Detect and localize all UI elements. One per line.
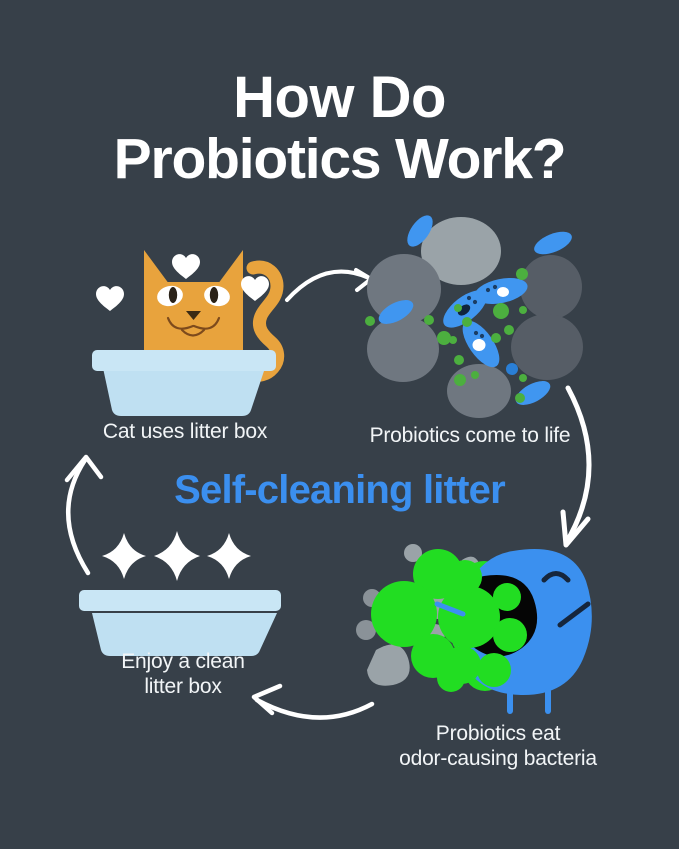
- cat-in-litter-box-icon: [92, 250, 278, 416]
- probiotic-with-face: [456, 315, 507, 373]
- probiotic-body: [456, 549, 592, 695]
- debris-particle: [425, 593, 451, 619]
- debris-particle: [404, 544, 422, 562]
- heart-icon-top: [172, 254, 200, 279]
- sparkle-star-group: [102, 531, 251, 581]
- probiotic-with-face: [472, 274, 530, 309]
- heart-icon-right: [241, 276, 269, 301]
- sparkle-star-icon: [207, 533, 251, 579]
- step-2-caption: Probiotics come to life: [330, 424, 610, 449]
- debris-particle: [458, 557, 480, 578]
- litter-pellet: [520, 255, 582, 319]
- probiotic-rod: [375, 295, 417, 329]
- step-4-caption: Enjoy a clean litter box: [48, 650, 318, 700]
- probiotic-eating-bacteria-icon: [356, 544, 592, 714]
- arrow-probiotics-to-eating: [563, 388, 589, 545]
- step-3-caption: Probiotics eat odor-causing bacteria: [348, 722, 648, 772]
- probiotic-rod: [402, 211, 437, 251]
- bacteria-group: [371, 549, 551, 692]
- bacteria-in-mouth-group: [438, 560, 527, 687]
- probiotic-leg: [507, 688, 513, 714]
- cat-ear-right: [212, 250, 243, 292]
- clean-litter-box-icon: [79, 590, 281, 656]
- cat-nose: [186, 311, 201, 320]
- debris-particle: [425, 624, 445, 644]
- odor-particle-group: [365, 268, 528, 403]
- cat-mouth: [182, 330, 204, 336]
- infographic-page: How Do Probiotics Work? Cat uses litter …: [0, 0, 679, 849]
- heart-icon-group: [96, 254, 269, 311]
- cat-pupil-left: [169, 287, 177, 303]
- litter-box-rim-dirty: [92, 350, 276, 371]
- probiotic-with-face: [437, 284, 493, 335]
- litter-pellet: [367, 254, 441, 324]
- litter-pellet: [447, 364, 511, 418]
- debris-particle: [363, 589, 381, 607]
- cat-pupil-right: [210, 287, 218, 303]
- sparkle-star-icon: [102, 533, 146, 579]
- title-line-2: Probiotics Work?: [0, 129, 679, 191]
- cat-head: [144, 282, 243, 372]
- probiotic-rod: [512, 376, 554, 410]
- cat-muzzle-right: [194, 318, 219, 329]
- page-title: How Do Probiotics Work?: [0, 68, 679, 191]
- step-4-caption-line-2: litter box: [48, 675, 318, 700]
- probiotic-leg: [545, 688, 551, 714]
- step-4-caption-line-1: Enjoy a clean: [48, 650, 318, 675]
- litter-pellet: [421, 217, 501, 285]
- debris-particle: [356, 620, 376, 640]
- probiotic-cluster-icon: [365, 211, 583, 418]
- self-cleaning-headline: Self-cleaning litter: [0, 468, 679, 513]
- probiotic-mouth: [454, 575, 537, 657]
- title-line-1: How Do: [0, 68, 679, 127]
- cat-ear-left: [144, 250, 175, 292]
- probiotic-arm: [560, 604, 588, 625]
- sparkle-star-icon: [154, 531, 200, 581]
- debris-particle: [367, 645, 410, 686]
- cat-muzzle-left: [168, 318, 193, 329]
- cat-eye-right: [202, 284, 232, 309]
- probiotic-tendril: [437, 604, 463, 614]
- step-1-caption: Cat uses litter box: [52, 420, 318, 445]
- litter-box-rim-clean: [79, 590, 281, 611]
- litter-pellet: [511, 314, 583, 380]
- litter-pellet: [367, 316, 439, 382]
- probiotic-dot: [506, 363, 518, 375]
- cat-eye-left: [155, 284, 185, 309]
- probiotic-rod: [531, 227, 575, 259]
- debris-particle: [450, 594, 466, 610]
- step-3-caption-line-1: Probiotics eat: [348, 722, 648, 747]
- arrow-cat-to-probiotics: [287, 270, 371, 300]
- litter-box-body-dirty: [103, 368, 265, 416]
- step-3-caption-line-2: odor-causing bacteria: [348, 747, 648, 772]
- cat-tail: [251, 267, 278, 375]
- heart-icon-left: [96, 286, 124, 311]
- probiotic-eye: [544, 574, 568, 581]
